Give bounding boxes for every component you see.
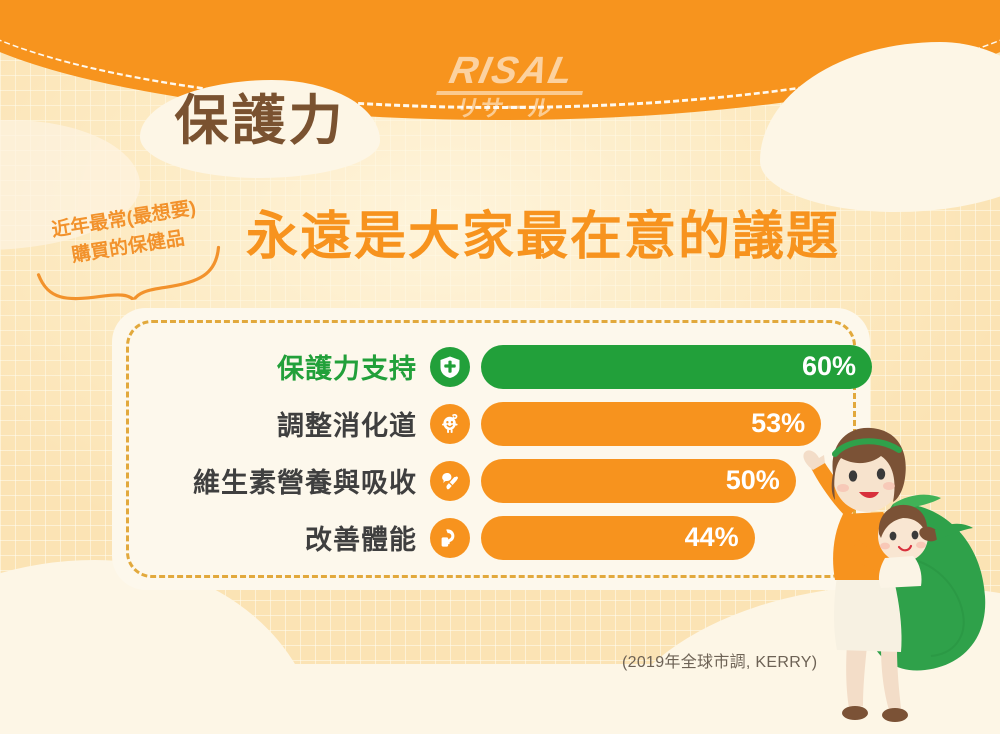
bar-value-protection: 60% [802, 351, 856, 382]
bar-fill-digestion: 53% [481, 402, 821, 446]
infographic-poster: RISAL リサール 保護力 永遠是大家最在意的議題 近年最常(最想要) 購買的… [0, 0, 1000, 734]
probiotic-character-icon [430, 404, 470, 444]
bar-label-digestion: 調整消化道 [112, 404, 430, 443]
bar-track-protection: 60% [481, 345, 872, 389]
bar-chart-rows: 保護力支持 60% 調整消化道 [112, 338, 872, 566]
badge-label: 保護力 [160, 92, 360, 151]
headline-title: 永遠是大家最在意的議題 [246, 194, 840, 269]
bar-fill-protection: 60% [481, 345, 872, 389]
bar-row-fitness: 改善體能 44% [112, 509, 872, 566]
bar-row-digestion: 調整消化道 53% [112, 395, 872, 452]
flexing-arm-icon [430, 518, 470, 558]
bar-label-fitness: 改善體能 [112, 518, 430, 557]
bar-row-protection: 保護力支持 60% [112, 338, 872, 395]
bar-row-vitamins: 維生素營養與吸收 50% [112, 452, 872, 509]
banner-dashed-line [0, 0, 1000, 109]
bar-fill-fitness: 44% [481, 516, 755, 560]
bar-label-vitamins: 維生素營養與吸收 [112, 461, 430, 500]
bar-fill-vitamins: 50% [481, 459, 796, 503]
vegetables-nutrition-icon [430, 461, 470, 501]
bar-value-vitamins: 50% [726, 465, 780, 496]
bar-value-fitness: 44% [685, 522, 739, 553]
bar-label-protection: 保護力支持 [112, 347, 430, 386]
shield-cross-icon [430, 347, 470, 387]
superhero-mother-and-child-illustration [785, 408, 1000, 728]
